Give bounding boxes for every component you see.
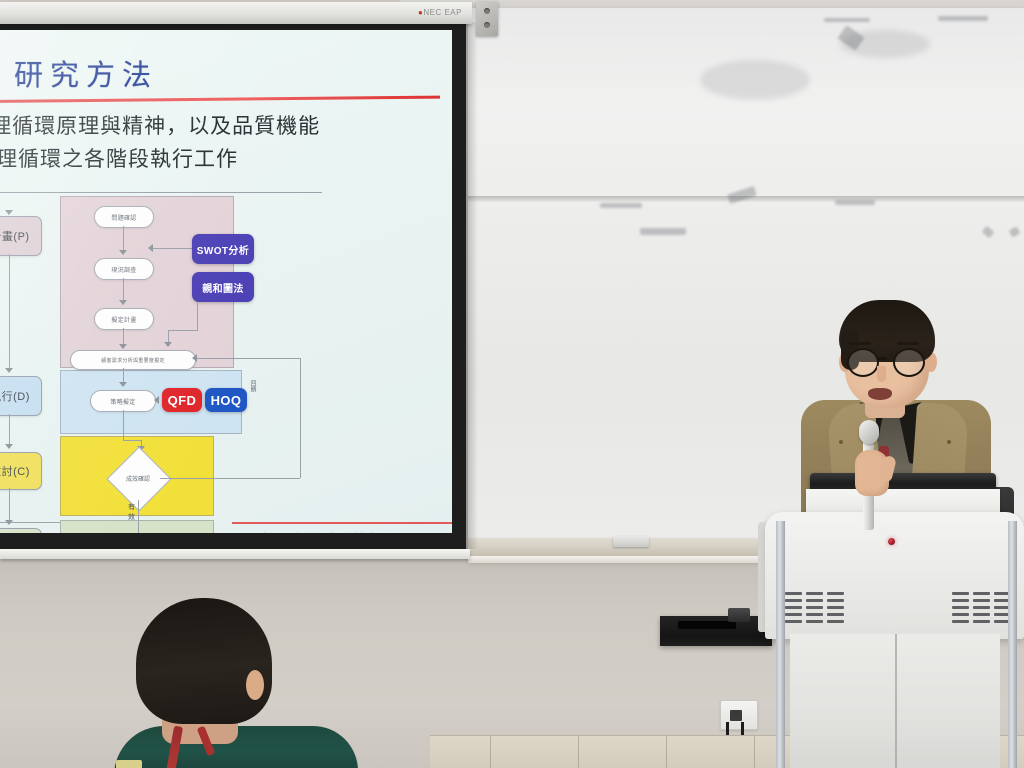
audience-member <box>118 598 338 768</box>
whiteboard-scuff <box>824 18 870 22</box>
whiteboard-scuff <box>835 200 875 205</box>
whiteboard-scuff <box>600 203 642 208</box>
presenter-glasses-bridge <box>878 357 887 360</box>
whiteboard-eraser[interactable] <box>613 536 649 547</box>
flow-node-planning: 擬定計畫 <box>94 308 154 330</box>
pdca-act-box: 改正(A) <box>0 528 42 533</box>
slide-page-number: 12 <box>447 530 452 533</box>
screen-weight-bar <box>0 549 470 559</box>
podium-rail-right <box>1008 521 1017 768</box>
slide-title-rule <box>0 96 440 104</box>
pdca-check-box: 檢討(C) <box>0 452 42 490</box>
flow-node-problem: 問題確認 <box>94 206 154 228</box>
branch-label-yes: 有 <box>128 502 135 512</box>
flow-node-customer-needs: 顧客需求分析與重要度擬定 <box>70 350 196 370</box>
slide-footer-text: 析研討會與專案競賽 <box>262 530 379 533</box>
podium-power-led <box>888 538 895 545</box>
flow-node-strategy: 策略擬定 <box>90 390 156 412</box>
screen-mount-bracket <box>476 2 498 36</box>
presenter-nose <box>877 366 886 382</box>
feedback-side-label: 回饋 <box>248 380 257 392</box>
whiteboard-smudge <box>700 60 810 100</box>
whiteboard-scuff <box>640 228 686 235</box>
pdca-plan-box: 計畫(P) <box>0 216 42 256</box>
slide-body-text: A管理循環原理與精神，以及品質機能 應管理循環之各階段執行工作 <box>0 110 452 175</box>
screen-roller-housing: ●NEC EAP <box>0 2 472 24</box>
tool-hoq: HOQ <box>205 388 247 412</box>
slide-body-line-1: A管理循環原理與精神，以及品質機能 <box>0 110 452 143</box>
slide-title: 研究方法 <box>14 52 158 94</box>
shelf-slot <box>678 621 736 629</box>
presenter-glasses-left-lens <box>847 348 879 377</box>
flow-decision-label: 成效確認 <box>116 466 160 490</box>
flow-node-survey: 現況調查 <box>94 258 154 280</box>
pdca-flowchart: 計畫(P) 執行(D) 檢討(C) 改正(A) 問題確認 現況調查 擬定計畫 <box>0 190 452 525</box>
audience-badge <box>116 760 142 768</box>
band-act <box>60 520 214 533</box>
slide-body-line-2: 應管理循環之各階段執行工作 <box>0 143 452 176</box>
podium-base-seam <box>895 634 897 768</box>
slide-footer-rule <box>232 522 452 524</box>
audience-hair <box>136 598 272 724</box>
projection-screen-surface: 研究方法 A管理循環原理與精神，以及品質機能 應管理循環之各階段執行工作 計畫(… <box>0 30 452 533</box>
whiteboard-scuff <box>938 16 988 21</box>
screen-edge-shadow <box>466 22 478 549</box>
presentation-slide: 研究方法 A管理循環原理與精神，以及品質機能 應管理循環之各階段執行工作 計畫(… <box>0 30 452 533</box>
microphone-head[interactable] <box>859 420 879 444</box>
screen-brand-mark: ●NEC EAP <box>418 8 462 17</box>
presenter-glasses-right-lens <box>893 348 925 377</box>
branch-label-effect: 效 <box>128 512 135 522</box>
tool-affinity-diagram: 親和圖法 <box>192 272 254 302</box>
presenter-mouth <box>868 388 892 400</box>
shelf-device[interactable] <box>728 608 750 622</box>
podium-rail-left <box>776 521 785 768</box>
tool-swot: SWOT分析 <box>192 234 254 264</box>
audience-ear <box>246 670 264 700</box>
outlet-socket <box>730 710 742 721</box>
tool-qfd: QFD <box>162 388 202 412</box>
pdca-do-box: 執行(D) <box>0 376 42 416</box>
presentation-room-photo: 研究方法 A管理循環原理與精神，以及品質機能 應管理循環之各階段執行工作 計畫(… <box>0 0 1024 768</box>
